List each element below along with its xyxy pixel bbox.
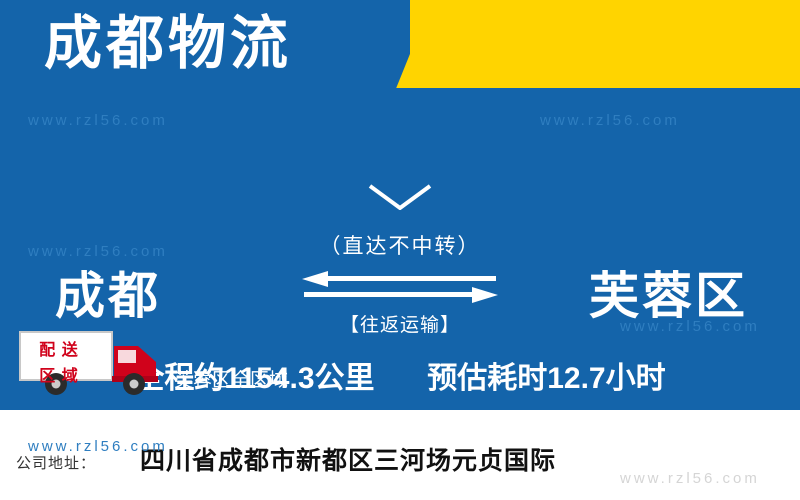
watermark: www.rzl56.com (28, 438, 168, 455)
coverage-text: 芙蓉区全区域 (174, 365, 288, 392)
delivery-badge-line1: 配 送 (26, 338, 92, 364)
header-band: 成都物流 (0, 0, 800, 88)
delivery-badge: 配 送 区 域 (26, 338, 92, 390)
watermark: www.rzl56.com (28, 243, 168, 260)
roundtrip-note: 【往返运输】 (340, 310, 460, 337)
origin-city: 成都 (55, 256, 161, 328)
address-value: 四川省成都市新都区三河场元贞国际 (140, 441, 556, 477)
duration-text: 预估耗时12.7小时 (427, 362, 665, 395)
logistics-poster: 成都物流 （直达不中转） 成都 芙蓉区 【往返运输】 全程约1154.3公里 预… (0, 0, 800, 500)
delivery-badge-line2: 区 域 (26, 364, 92, 390)
watermark: www.rzl56.com (620, 318, 760, 335)
watermark: www.rzl56.com (540, 112, 680, 129)
chevron-down-icon (368, 184, 432, 210)
header-stripe-3 (472, 0, 800, 88)
direct-note: （直达不中转） (320, 230, 481, 260)
two-way-arrow-icon (302, 270, 498, 304)
watermark: www.rzl56.com (620, 470, 760, 487)
page-title: 成都物流 (44, 6, 292, 82)
address-label: 公司地址： (16, 452, 96, 473)
watermark: www.rzl56.com (28, 112, 168, 129)
